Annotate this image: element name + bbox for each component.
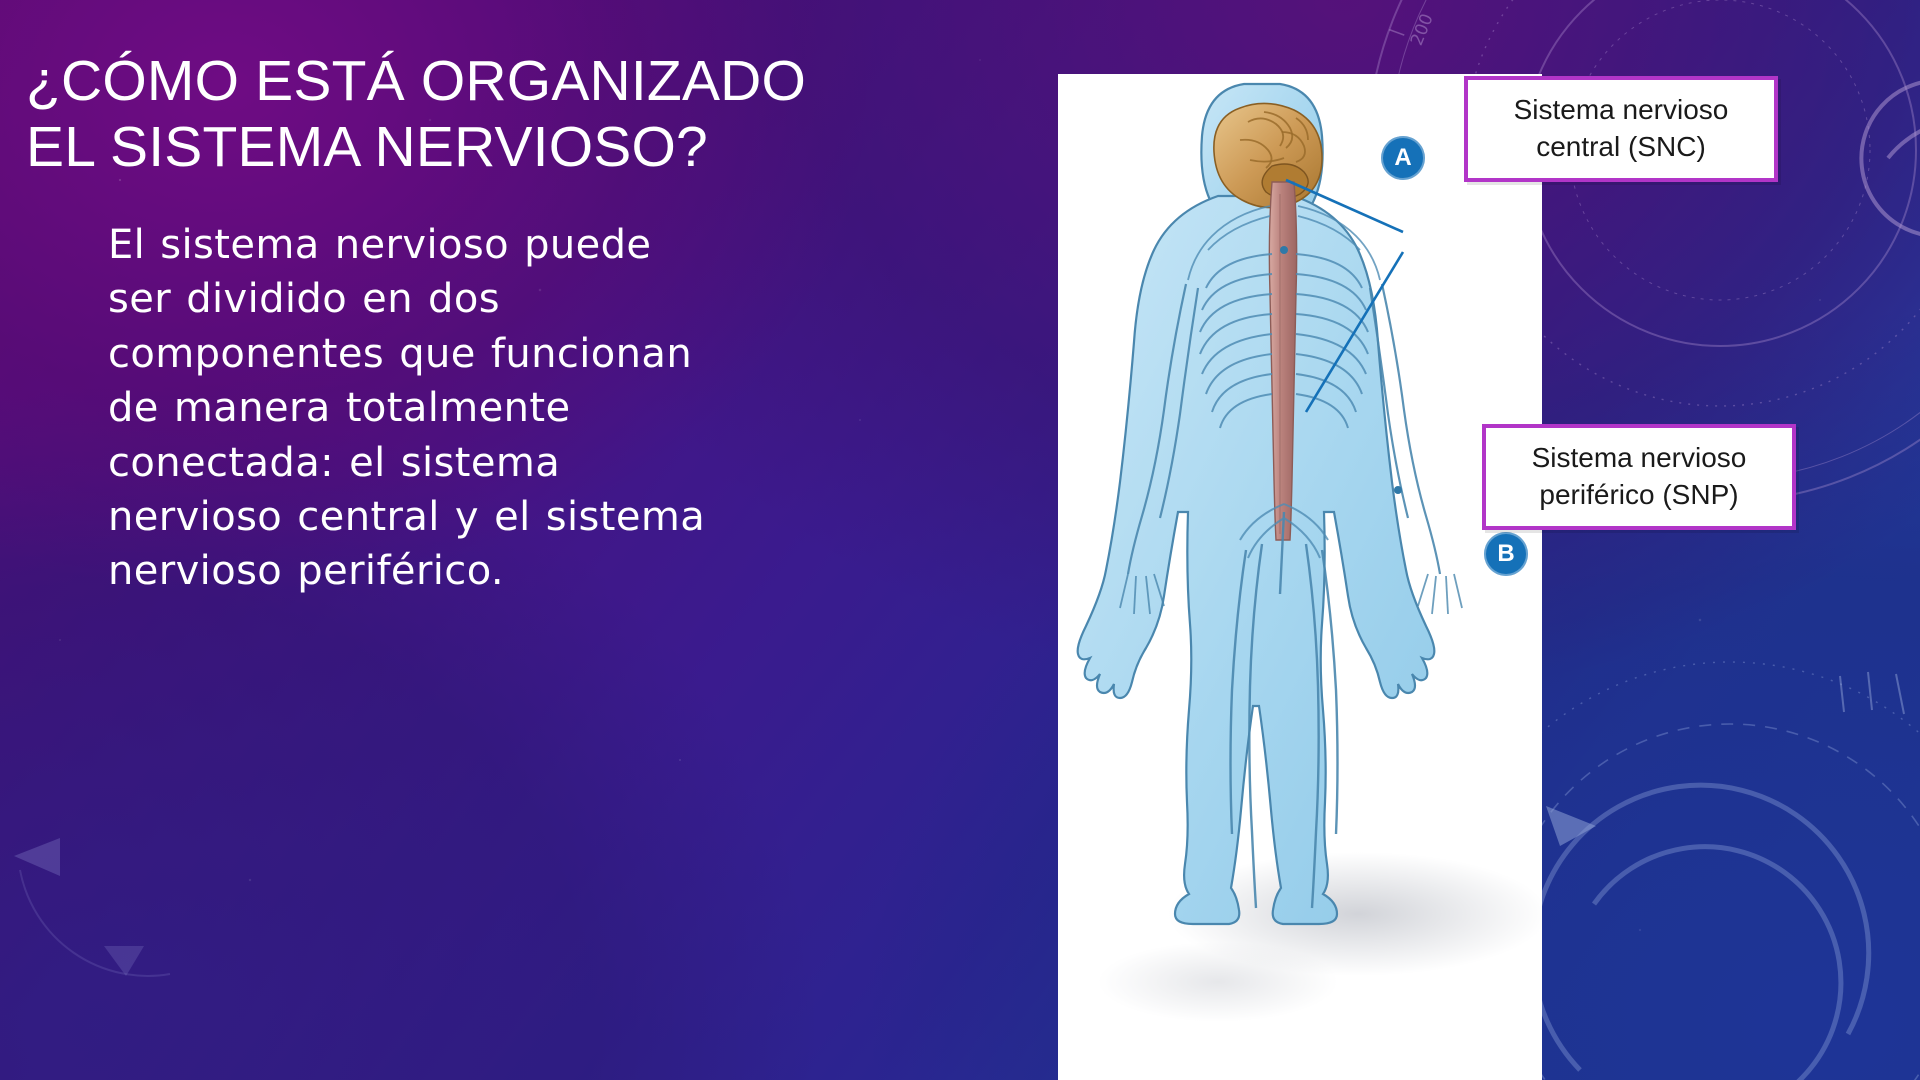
callout-sistema-nervioso-periferico[interactable]: Sistema nervioso periférico (SNP): [1482, 424, 1796, 530]
nervous-system-image-panel: [1058, 74, 1542, 1080]
arrow-pointer-icon: [1546, 806, 1596, 846]
marker-b-badge[interactable]: B: [1484, 532, 1528, 576]
arrow-pointer-icon: [0, 760, 300, 1060]
slide-root: 200 210 150 140: [0, 0, 1920, 1080]
page-title: ¿Cómo está organizado el sistema nervios…: [26, 48, 886, 180]
body-paragraph: El sistema nervioso puede ser dividido e…: [108, 218, 708, 599]
human-nervous-system-diagram: [1058, 74, 1542, 1080]
svg-text:200: 200: [1407, 11, 1438, 49]
callout-sistema-nervioso-central[interactable]: Sistema nervioso central (SNC): [1464, 76, 1778, 182]
marker-a-badge[interactable]: A: [1381, 136, 1425, 180]
